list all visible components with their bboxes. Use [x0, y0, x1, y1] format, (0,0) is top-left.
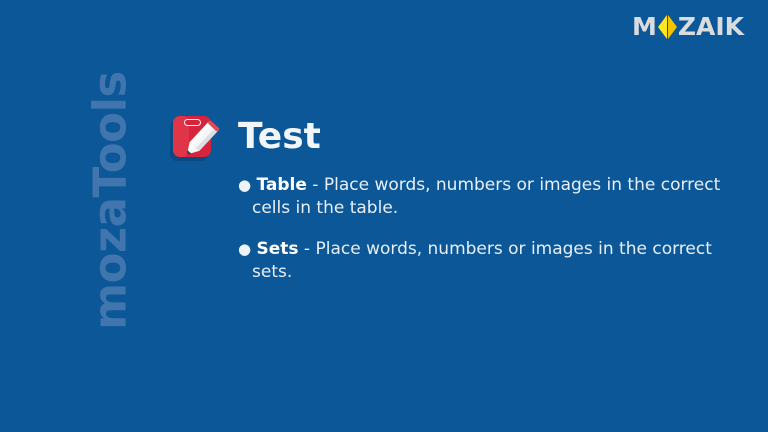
bullet-separator: -	[299, 239, 316, 259]
slide-canvas: M ZAIK mozaTools	[0, 0, 768, 432]
bullet-description: Place words, numbers or images in the co…	[252, 239, 712, 282]
logo-text-suffix: ZAIK	[678, 14, 744, 40]
bullet-marker: ●	[238, 176, 251, 194]
list-item: ● Sets - Place words, numbers or images …	[238, 238, 738, 284]
content-block: Test ● Table - Place words, numbers or i…	[168, 108, 748, 284]
bullet-term: Table	[257, 175, 307, 195]
page-title: Test	[238, 115, 321, 159]
mozatools-sidebar-wordmark: mozaTools	[0, 0, 140, 432]
mozaik-logo: M ZAIK	[632, 14, 744, 40]
title-row: Test	[168, 108, 748, 166]
bullet-list: ● Table - Place words, numbers or images…	[238, 174, 738, 284]
mozatools-wordmark-text: mozaTools	[88, 51, 133, 351]
logo-text-prefix: M	[632, 14, 657, 40]
diamond-icon	[658, 15, 677, 39]
bullet-marker: ●	[238, 240, 251, 258]
list-item: ● Table - Place words, numbers or images…	[238, 174, 738, 220]
bullet-separator: -	[307, 175, 324, 195]
clipboard-pencil-icon	[168, 111, 224, 163]
bullet-term: Sets	[257, 239, 299, 259]
